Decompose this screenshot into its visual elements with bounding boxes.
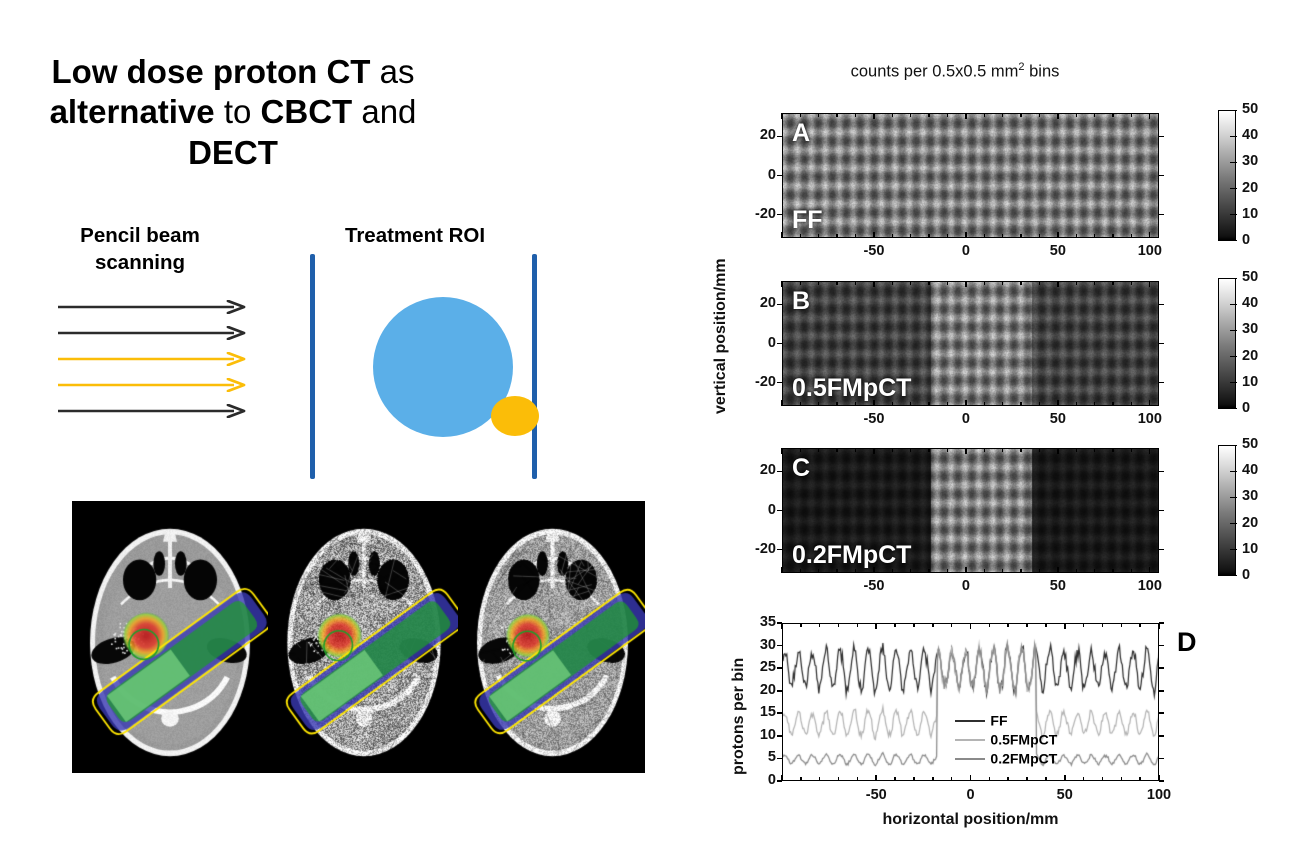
- x-axis-tick: [781, 232, 782, 238]
- y-axis-tick-right: [1159, 549, 1164, 550]
- panel-tag-a: FF: [792, 206, 823, 235]
- d-x-axis-tick: [800, 623, 802, 627]
- x-axis-tick: [965, 400, 966, 406]
- title-plain-and: and: [352, 93, 416, 130]
- y-tick-label: 0: [742, 167, 776, 183]
- legend-label: 0.5FMpCT: [990, 732, 1057, 748]
- x-axis-tick: [800, 281, 801, 285]
- d-x-axis-tick: [1026, 623, 1028, 627]
- x-axis-tick: [1131, 402, 1132, 406]
- d-x-axis-title: horizontal position/mm: [782, 811, 1159, 829]
- y-axis-tick: [777, 214, 782, 215]
- colorbar-tick: [1230, 330, 1237, 331]
- x-axis-tick: [892, 234, 893, 238]
- fluence-map-panel-c: C0.2FMpCT-50050100-2002001020304050: [782, 448, 1159, 573]
- x-axis-tick: [910, 234, 911, 238]
- d-x-axis-tick: [951, 623, 953, 627]
- colorbar-tick-label: 20: [1242, 515, 1258, 531]
- d-x-tick-label: 0: [949, 787, 993, 803]
- d-x-axis-tick: [1064, 623, 1066, 629]
- y-axis-tick-right: [1159, 175, 1164, 176]
- colorbar-tick-label: 20: [1242, 180, 1258, 196]
- x-axis-tick: [947, 448, 948, 452]
- x-axis-tick: [1020, 281, 1021, 285]
- d-y-axis-tick-right: [1159, 712, 1164, 714]
- d-x-axis-tick: [932, 623, 934, 627]
- ct-canvas: [72, 501, 268, 773]
- x-axis-tick: [1076, 569, 1077, 573]
- x-axis-tick: [928, 113, 929, 117]
- colorbar-gradient: [1218, 278, 1236, 409]
- d-x-tick-label: 50: [1043, 787, 1087, 803]
- figure-title-tail: bins: [1025, 63, 1060, 81]
- x-axis-tick: [800, 448, 801, 452]
- colorbar-tick: [1230, 382, 1237, 383]
- d-x-axis-tick: [989, 777, 991, 781]
- y-axis-tick-right: [1159, 304, 1164, 305]
- beam-arrow-4: [58, 378, 246, 392]
- x-axis-tick: [1131, 113, 1132, 117]
- d-x-tick-label: 100: [1137, 787, 1181, 803]
- x-axis-tick: [947, 402, 948, 406]
- x-tick-label: 100: [1128, 243, 1172, 259]
- d-x-axis-tick: [1083, 777, 1085, 781]
- d-x-axis-tick: [838, 623, 840, 627]
- colorbar-tick: [1230, 304, 1237, 305]
- treatment-roi-heading: Treatment ROI: [310, 222, 520, 249]
- heatmap-canvas: [783, 114, 1159, 238]
- d-x-axis-tick: [1083, 623, 1085, 627]
- panel-letter-a: A: [792, 119, 810, 148]
- d-x-axis-tick: [875, 775, 877, 781]
- d-x-axis-tick: [838, 777, 840, 781]
- x-axis-tick: [947, 234, 948, 238]
- panel-letter-b: B: [792, 287, 810, 316]
- d-x-axis-tick: [1158, 623, 1160, 629]
- x-axis-tick: [818, 281, 819, 285]
- colorbar-tick: [1230, 356, 1237, 357]
- legend-item: FF: [955, 711, 1057, 730]
- fluence-map-panel-a: AFF-50050100-2002001020304050: [782, 113, 1159, 238]
- legend-swatch-line: [955, 739, 985, 741]
- y-tick-label: 0: [742, 335, 776, 351]
- x-axis-tick: [892, 113, 893, 117]
- colorbar-tick-label: 50: [1242, 436, 1258, 452]
- d-y-axis-tick-right: [1159, 645, 1164, 647]
- d-x-axis-tick: [913, 777, 915, 781]
- colorbar-tick: [1230, 549, 1237, 550]
- colorbar-tick-label: 40: [1242, 127, 1258, 143]
- y-axis-tick: [777, 304, 782, 305]
- x-axis-tick: [873, 232, 874, 238]
- beam-arrow-2: [58, 326, 246, 340]
- x-axis-tick: [1020, 402, 1021, 406]
- d-y-axis-tick: [777, 712, 782, 714]
- x-axis-tick: [1057, 232, 1058, 238]
- x-tick-label: 0: [944, 243, 988, 259]
- panel-letter-c: C: [792, 454, 810, 483]
- x-axis-tick: [1039, 402, 1040, 406]
- x-tick-label: -50: [852, 578, 896, 594]
- d-y-axis-tick-right: [1159, 690, 1164, 692]
- x-axis-tick: [984, 234, 985, 238]
- d-x-axis-tick: [1121, 623, 1123, 627]
- title-plain-as: as: [370, 53, 414, 90]
- d-y-axis-tick: [777, 758, 782, 760]
- x-axis-tick: [947, 569, 948, 573]
- x-axis-tick: [984, 448, 985, 452]
- x-tick-label: 50: [1036, 411, 1080, 427]
- x-axis-tick: [1002, 569, 1003, 573]
- ct-canvas: [460, 501, 645, 773]
- x-tick-label: 50: [1036, 578, 1080, 594]
- x-axis-tick: [818, 113, 819, 117]
- panel-tag-c: 0.2FMpCT: [792, 541, 911, 570]
- x-axis-tick: [855, 234, 856, 238]
- d-x-axis-tick: [1007, 623, 1009, 627]
- x-axis-tick: [1112, 448, 1113, 452]
- d-y-axis-tick-right: [1159, 735, 1164, 737]
- d-x-axis-tick: [1102, 777, 1104, 781]
- x-axis-tick: [1057, 400, 1058, 406]
- colorbar-tick-label: 0: [1242, 232, 1250, 248]
- x-axis-tick: [965, 281, 966, 287]
- ct-canvas: [270, 501, 458, 773]
- x-axis-tick: [1076, 448, 1077, 452]
- d-x-tick-label: -50: [854, 787, 898, 803]
- legend-label: 0.2FMpCT: [990, 751, 1057, 767]
- fluence-map-panel-b: B0.5FMpCT-50050100-2002001020304050: [782, 281, 1159, 406]
- x-axis-tick: [965, 113, 966, 119]
- x-axis-tick: [1112, 402, 1113, 406]
- title-plain-to: to: [215, 93, 261, 130]
- x-axis-tick: [965, 448, 966, 454]
- x-axis-tick: [1112, 281, 1113, 285]
- y-axis-tick: [777, 136, 782, 137]
- x-axis-tick: [855, 281, 856, 285]
- x-axis-tick: [1149, 400, 1150, 406]
- d-x-axis-tick: [894, 623, 896, 627]
- colorbar-a: 01020304050: [1218, 110, 1280, 241]
- colorbar-tick-label: 30: [1242, 321, 1258, 337]
- x-axis-tick: [836, 113, 837, 117]
- x-axis-tick: [984, 402, 985, 406]
- x-axis-tick: [1094, 234, 1095, 238]
- x-axis-tick: [1131, 281, 1132, 285]
- x-axis-tick: [1112, 113, 1113, 117]
- d-x-axis-tick: [1007, 777, 1009, 781]
- x-axis-tick: [1094, 402, 1095, 406]
- x-axis-tick: [1057, 567, 1058, 573]
- d-x-axis-tick: [1064, 775, 1066, 781]
- roi-detector-bar-right: [532, 254, 537, 479]
- colorbar-b: 01020304050: [1218, 278, 1280, 409]
- x-axis-tick: [928, 402, 929, 406]
- x-axis-tick: [873, 281, 874, 287]
- x-axis-tick: [1149, 567, 1150, 573]
- x-axis-tick: [1057, 113, 1058, 119]
- x-axis-tick: [1094, 448, 1095, 452]
- colorbar-tick: [1230, 110, 1237, 111]
- x-axis-tick: [1057, 448, 1058, 454]
- d-y-axis-title: protons per bin: [730, 658, 748, 775]
- y-axis-tick: [777, 175, 782, 176]
- x-axis-tick: [1039, 448, 1040, 452]
- y-tick-label: 0: [742, 502, 776, 518]
- x-tick-label: 0: [944, 578, 988, 594]
- colorbar-tick: [1230, 471, 1237, 472]
- legend-item: 0.5FMpCT: [955, 730, 1057, 749]
- x-axis-tick: [855, 448, 856, 452]
- x-axis-tick: [928, 569, 929, 573]
- y-axis-tick-right: [1159, 471, 1164, 472]
- x-axis-tick: [1002, 402, 1003, 406]
- x-tick-label: 100: [1128, 578, 1172, 594]
- colorbar-tick-label: 0: [1242, 567, 1250, 583]
- d-y-axis-tick-right: [1159, 667, 1164, 669]
- legend-swatch-line: [955, 720, 985, 722]
- y-axis-tick: [777, 510, 782, 511]
- d-x-axis-tick: [857, 623, 859, 627]
- roi-detector-bar-left: [310, 254, 315, 479]
- x-axis-tick: [965, 567, 966, 573]
- colorbar-tick: [1230, 445, 1237, 446]
- d-x-axis-tick: [932, 777, 934, 781]
- colorbar-tick-label: 10: [1242, 541, 1258, 557]
- d-y-axis-tick: [777, 780, 782, 782]
- y-axis-tick: [777, 471, 782, 472]
- y-tick-label: -20: [742, 206, 776, 222]
- x-axis-tick: [1002, 113, 1003, 117]
- d-y-axis-tick: [777, 735, 782, 737]
- d-x-axis-tick: [819, 777, 821, 781]
- title-emph-dect: DECT: [188, 134, 278, 171]
- treatment-roi-diagram: [300, 254, 550, 479]
- x-axis-tick: [1131, 448, 1132, 452]
- plot-area: AFF: [782, 113, 1159, 238]
- d-x-axis-tick: [781, 623, 783, 629]
- ct-slice-reference: [72, 501, 268, 773]
- title-emph-alternative: alternative: [50, 93, 215, 130]
- x-axis-tick: [1020, 448, 1021, 452]
- page-title: Low dose proton CT as alternative to CBC…: [18, 52, 448, 173]
- y-tick-label: -20: [742, 541, 776, 557]
- x-axis-tick: [1039, 569, 1040, 573]
- d-x-axis-tick: [894, 777, 896, 781]
- x-axis-tick: [1002, 234, 1003, 238]
- d-y-axis-tick: [777, 645, 782, 647]
- d-y-axis-tick: [777, 690, 782, 692]
- colorbar-tick-label: 20: [1242, 348, 1258, 364]
- x-axis-tick: [781, 400, 782, 406]
- x-axis-tick: [1094, 569, 1095, 573]
- legend-label: FF: [990, 713, 1007, 729]
- d-x-axis-tick: [819, 623, 821, 627]
- y-tick-label: 20: [742, 127, 776, 143]
- x-axis-tick: [910, 113, 911, 117]
- colorbar-tick: [1230, 523, 1237, 524]
- d-y-tick-label: 35: [742, 614, 776, 630]
- d-x-axis-tick: [1045, 623, 1047, 627]
- d-x-axis-tick: [800, 777, 802, 781]
- d-x-axis-tick: [951, 777, 953, 781]
- x-axis-tick: [1149, 281, 1150, 287]
- roi-target-volume: [491, 396, 539, 436]
- colorbar-tick-label: 30: [1242, 153, 1258, 169]
- y-tick-label: 20: [742, 462, 776, 478]
- d-x-axis-tick: [1121, 777, 1123, 781]
- x-axis-tick: [1039, 113, 1040, 117]
- x-axis-tick: [965, 232, 966, 238]
- x-axis-tick: [947, 281, 948, 285]
- title-emph-cbct: CBCT: [261, 93, 353, 130]
- x-axis-tick: [984, 113, 985, 117]
- x-axis-tick: [910, 281, 911, 285]
- d-x-axis-tick: [1102, 623, 1104, 627]
- d-x-axis-tick: [1045, 777, 1047, 781]
- pencil-beam-heading: Pencil beam scanning: [40, 222, 240, 276]
- colorbar-tick-label: 30: [1242, 488, 1258, 504]
- d-y-axis-tick-right: [1159, 622, 1164, 624]
- x-axis-tick: [892, 448, 893, 452]
- y-axis-tick-right: [1159, 343, 1164, 344]
- x-tick-label: 50: [1036, 243, 1080, 259]
- x-axis-tick: [1149, 232, 1150, 238]
- y-axis-tick: [777, 549, 782, 550]
- d-x-axis-tick: [1139, 623, 1141, 627]
- y-axis-tick: [777, 343, 782, 344]
- ct-image-strip: [72, 501, 645, 773]
- colorbar-gradient: [1218, 445, 1236, 576]
- colorbar-tick-label: 40: [1242, 295, 1258, 311]
- x-axis-tick: [1076, 113, 1077, 117]
- x-axis-tick: [947, 113, 948, 117]
- x-axis-tick: [928, 448, 929, 452]
- x-axis-tick: [836, 448, 837, 452]
- x-axis-tick: [1020, 113, 1021, 117]
- x-axis-tick: [818, 448, 819, 452]
- page-title-line-1: Low dose proton CT as: [18, 52, 448, 92]
- x-axis-tick: [1020, 569, 1021, 573]
- colorbar-tick: [1230, 240, 1237, 241]
- colorbar-tick-label: 50: [1242, 101, 1258, 117]
- x-axis-tick: [1131, 569, 1132, 573]
- slide-root: Low dose proton CT as alternative to CBC…: [0, 0, 1293, 850]
- d-y-axis-tick-right: [1159, 780, 1164, 782]
- figure-title: counts per 0.5x0.5 mm2 bins: [740, 61, 1170, 82]
- d-y-axis-tick-right: [1159, 758, 1164, 760]
- x-axis-tick: [1149, 113, 1150, 119]
- x-axis-tick: [781, 567, 782, 573]
- colorbar-c: 01020304050: [1218, 445, 1280, 576]
- colorbar-tick: [1230, 188, 1237, 189]
- x-axis-tick: [1039, 281, 1040, 285]
- d-x-axis-tick: [1026, 777, 1028, 781]
- x-axis-tick: [1076, 234, 1077, 238]
- x-axis-tick: [855, 113, 856, 117]
- x-tick-label: 100: [1128, 411, 1172, 427]
- x-axis-tick: [1112, 234, 1113, 238]
- d-y-tick-label: 30: [742, 637, 776, 653]
- x-axis-tick: [984, 281, 985, 285]
- x-axis-tick: [928, 234, 929, 238]
- colorbar-tick-label: 10: [1242, 206, 1258, 222]
- d-x-axis-tick: [857, 777, 859, 781]
- colorbar-tick-label: 40: [1242, 462, 1258, 478]
- d-x-axis-tick: [989, 623, 991, 627]
- x-tick-label: -50: [852, 243, 896, 259]
- x-axis-tick: [1076, 402, 1077, 406]
- legend-swatch-line: [955, 758, 985, 760]
- y-axis-tick-right: [1159, 136, 1164, 137]
- colorbar-tick: [1230, 408, 1237, 409]
- x-axis-tick: [1094, 113, 1095, 117]
- x-tick-label: 0: [944, 411, 988, 427]
- x-axis-tick: [1002, 281, 1003, 285]
- x-axis-tick: [781, 448, 782, 454]
- x-axis-tick: [1131, 234, 1132, 238]
- beam-arrow-5: [58, 404, 246, 418]
- x-axis-tick: [836, 234, 837, 238]
- title-emph-lowdose: Low dose proton CT: [52, 53, 371, 90]
- panel-letter-d: D: [1177, 627, 1197, 658]
- x-axis-tick: [1057, 281, 1058, 287]
- d-x-axis-tick: [970, 623, 972, 629]
- x-axis-tick: [1002, 448, 1003, 452]
- pencil-beam-arrows: [58, 300, 258, 430]
- x-axis-tick: [836, 281, 837, 285]
- colorbar-tick: [1230, 497, 1237, 498]
- colorbar-tick: [1230, 575, 1237, 576]
- y-axis-tick: [777, 382, 782, 383]
- beam-arrow-1: [58, 300, 246, 314]
- plot-area: C0.2FMpCT: [782, 448, 1159, 573]
- profile-plot-panel-d: -5005010005101520253035DFF0.5FMpCT0.2FMp…: [782, 623, 1159, 781]
- colorbar-gradient: [1218, 110, 1236, 241]
- y-tick-label: -20: [742, 374, 776, 390]
- x-tick-label: -50: [852, 411, 896, 427]
- x-axis-tick: [1039, 234, 1040, 238]
- colorbar-tick-label: 0: [1242, 400, 1250, 416]
- colorbar-tick: [1230, 278, 1237, 279]
- colorbar-tick-label: 10: [1242, 374, 1258, 390]
- x-axis-tick: [1076, 281, 1077, 285]
- ct-slice-noisy-2: [460, 501, 645, 773]
- legend-item: 0.2FMpCT: [955, 749, 1057, 768]
- fluence-figure: counts per 0.5x0.5 mm2 bins AFF-50050100…: [660, 50, 1290, 825]
- ct-slice-noisy-1: [270, 501, 458, 773]
- roi-patient-body: [373, 297, 513, 437]
- x-axis-tick: [984, 569, 985, 573]
- plot-area: B0.5FMpCT: [782, 281, 1159, 406]
- d-x-axis-tick: [913, 623, 915, 627]
- y-tick-label: 20: [742, 295, 776, 311]
- x-axis-tick: [781, 281, 782, 287]
- x-axis-tick: [1020, 234, 1021, 238]
- beam-arrow-3: [58, 352, 246, 366]
- y-axis-tick-right: [1159, 510, 1164, 511]
- x-axis-tick: [1112, 569, 1113, 573]
- colorbar-tick-label: 50: [1242, 269, 1258, 285]
- x-axis-tick: [873, 448, 874, 454]
- x-axis-tick: [910, 448, 911, 452]
- colorbar-tick: [1230, 162, 1237, 163]
- x-axis-tick: [873, 113, 874, 119]
- x-axis-tick: [781, 113, 782, 119]
- d-x-axis-tick: [1139, 777, 1141, 781]
- x-axis-tick: [928, 281, 929, 285]
- y-axis-tick-right: [1159, 214, 1164, 215]
